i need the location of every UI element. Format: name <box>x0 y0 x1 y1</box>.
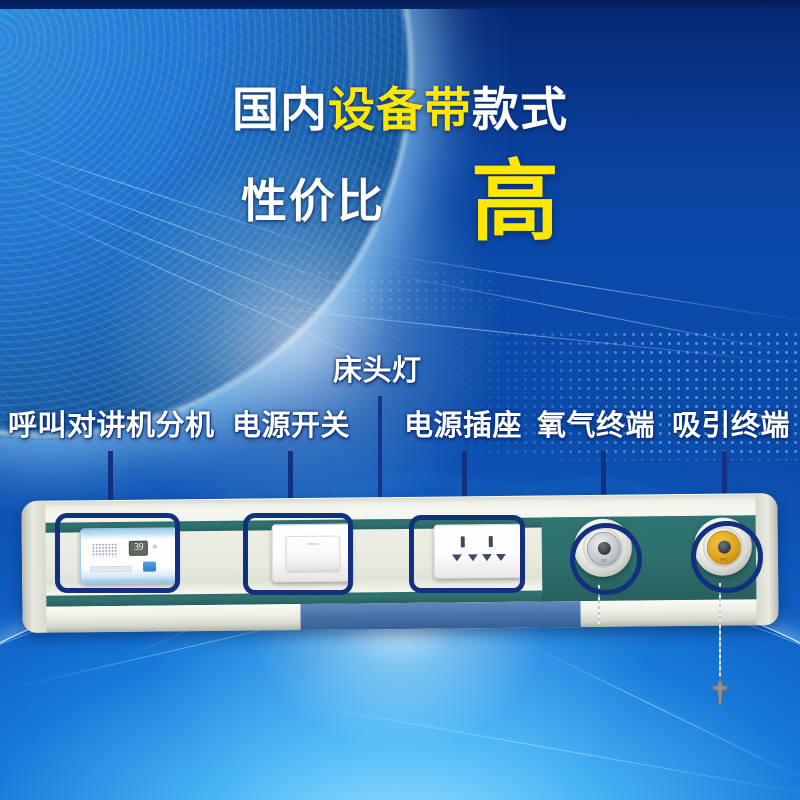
suction-marking: VAC <box>708 556 740 561</box>
headline-line-1: 国内设备带款式 <box>0 86 800 133</box>
callout-label-power-socket: 电源插座 <box>404 412 522 441</box>
nurse-call-intercom-device[interactable]: 39 <box>80 527 179 584</box>
rocker-switch-icon[interactable] <box>286 536 340 572</box>
suction-terminal-device[interactable]: VAC <box>694 517 753 576</box>
socket-pin-1 <box>452 554 462 561</box>
socket-pin-left-upper <box>461 536 465 547</box>
socket-face <box>449 536 507 567</box>
socket-pin-2 <box>468 554 478 561</box>
intercom-display: 39 <box>129 541 148 556</box>
suction-faceplate: VAC <box>707 530 741 564</box>
intercom-label-strip <box>90 566 132 572</box>
oxygen-port-hole <box>598 542 611 555</box>
oxygen-terminal-device[interactable]: O2 <box>574 519 633 578</box>
headline-part-2-highlight: 设备带 <box>328 83 472 136</box>
panel-end-cap-right <box>755 493 778 625</box>
pull-cord-handle-icon[interactable] <box>708 676 732 706</box>
promo-banner: 国内设备带款式 性价比 高 呼叫对讲机分机 电源开关 床头灯 电源插座 氧气终端… <box>0 0 800 800</box>
socket-pin-right-upper <box>489 536 493 547</box>
callout-label-suction: 吸引终端 <box>672 412 790 441</box>
socket-pin-4 <box>496 554 506 561</box>
callout-label-bed-lamp: 床头灯 <box>333 357 422 386</box>
suction-port-hole <box>718 541 731 554</box>
panel-body: 39 <box>21 493 778 633</box>
rocker-mark <box>307 543 319 545</box>
oxygen-marking: O2 <box>588 558 620 563</box>
emphasis-text: 高 <box>471 160 559 244</box>
headline-block: 国内设备带款式 性价比 高 <box>0 86 800 133</box>
power-socket-device[interactable] <box>434 524 523 579</box>
headline-part-3: 款式 <box>472 83 568 136</box>
callout-label-oxygen: 氧气终端 <box>537 412 655 441</box>
callout-label-intercom: 呼叫对讲机分机 <box>8 412 215 441</box>
subtitle-text: 性价比 <box>241 165 385 231</box>
speaker-grille-icon <box>92 543 118 557</box>
halftone-dots-center <box>170 250 550 340</box>
top-edge-strip <box>0 0 800 9</box>
intercom-call-button[interactable] <box>143 562 156 572</box>
panel-rail-insert <box>300 601 580 630</box>
headline-line-2: 性价比 高 <box>0 156 800 240</box>
suction-pull-cord <box>719 583 721 690</box>
callout-label-power-switch: 电源开关 <box>232 412 350 441</box>
headline-part-1: 国内 <box>232 83 328 136</box>
oxygen-faceplate: O2 <box>587 532 621 566</box>
medical-equipment-panel: 39 <box>21 493 778 633</box>
socket-pin-3 <box>482 554 492 561</box>
status-led-icon <box>153 545 157 549</box>
panel-end-cap-left <box>21 501 46 633</box>
power-switch-device[interactable] <box>272 524 353 583</box>
oxygen-pull-cord <box>598 585 600 625</box>
